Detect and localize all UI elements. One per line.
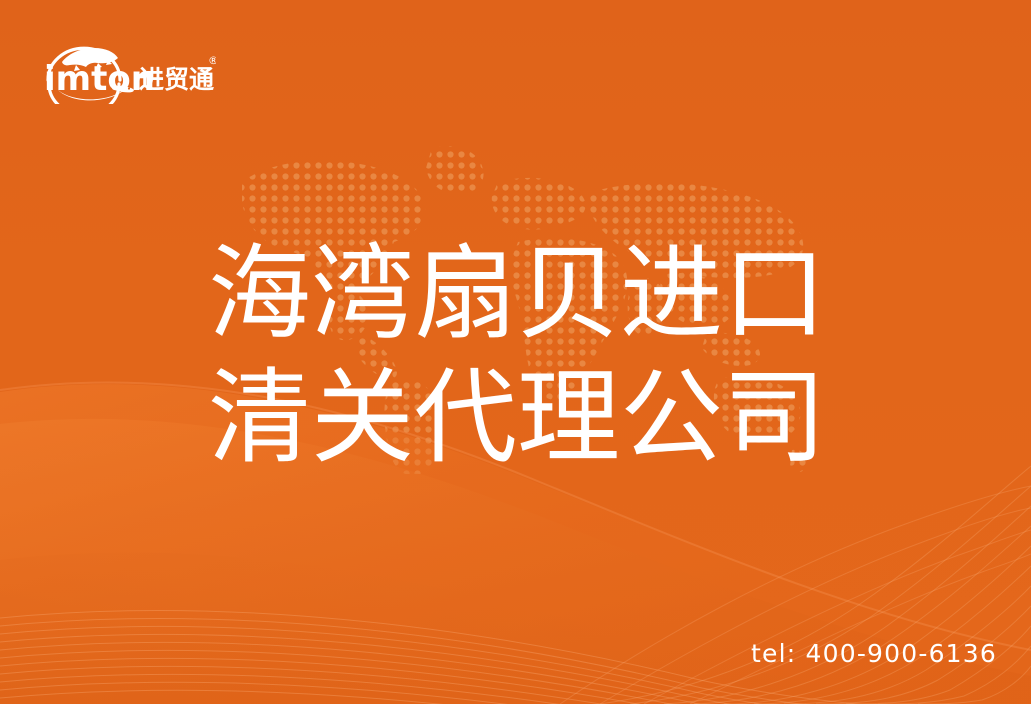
- headline-line-2: 清关代理公司: [208, 356, 848, 480]
- promo-banner: imton 进贸通 ® 海湾扇贝进口 清关代理公司 tel: 400-900-6…: [0, 0, 1031, 704]
- logo-chinese-name: 进贸通: [139, 65, 214, 94]
- telephone-text: tel: 400-900-6136: [751, 639, 997, 668]
- headline: 海湾扇贝进口 清关代理公司: [208, 232, 848, 480]
- headline-line-1: 海湾扇贝进口: [208, 232, 848, 356]
- registered-mark-icon: ®: [208, 54, 216, 67]
- company-logo[interactable]: imton 进贸通 ®: [36, 32, 216, 104]
